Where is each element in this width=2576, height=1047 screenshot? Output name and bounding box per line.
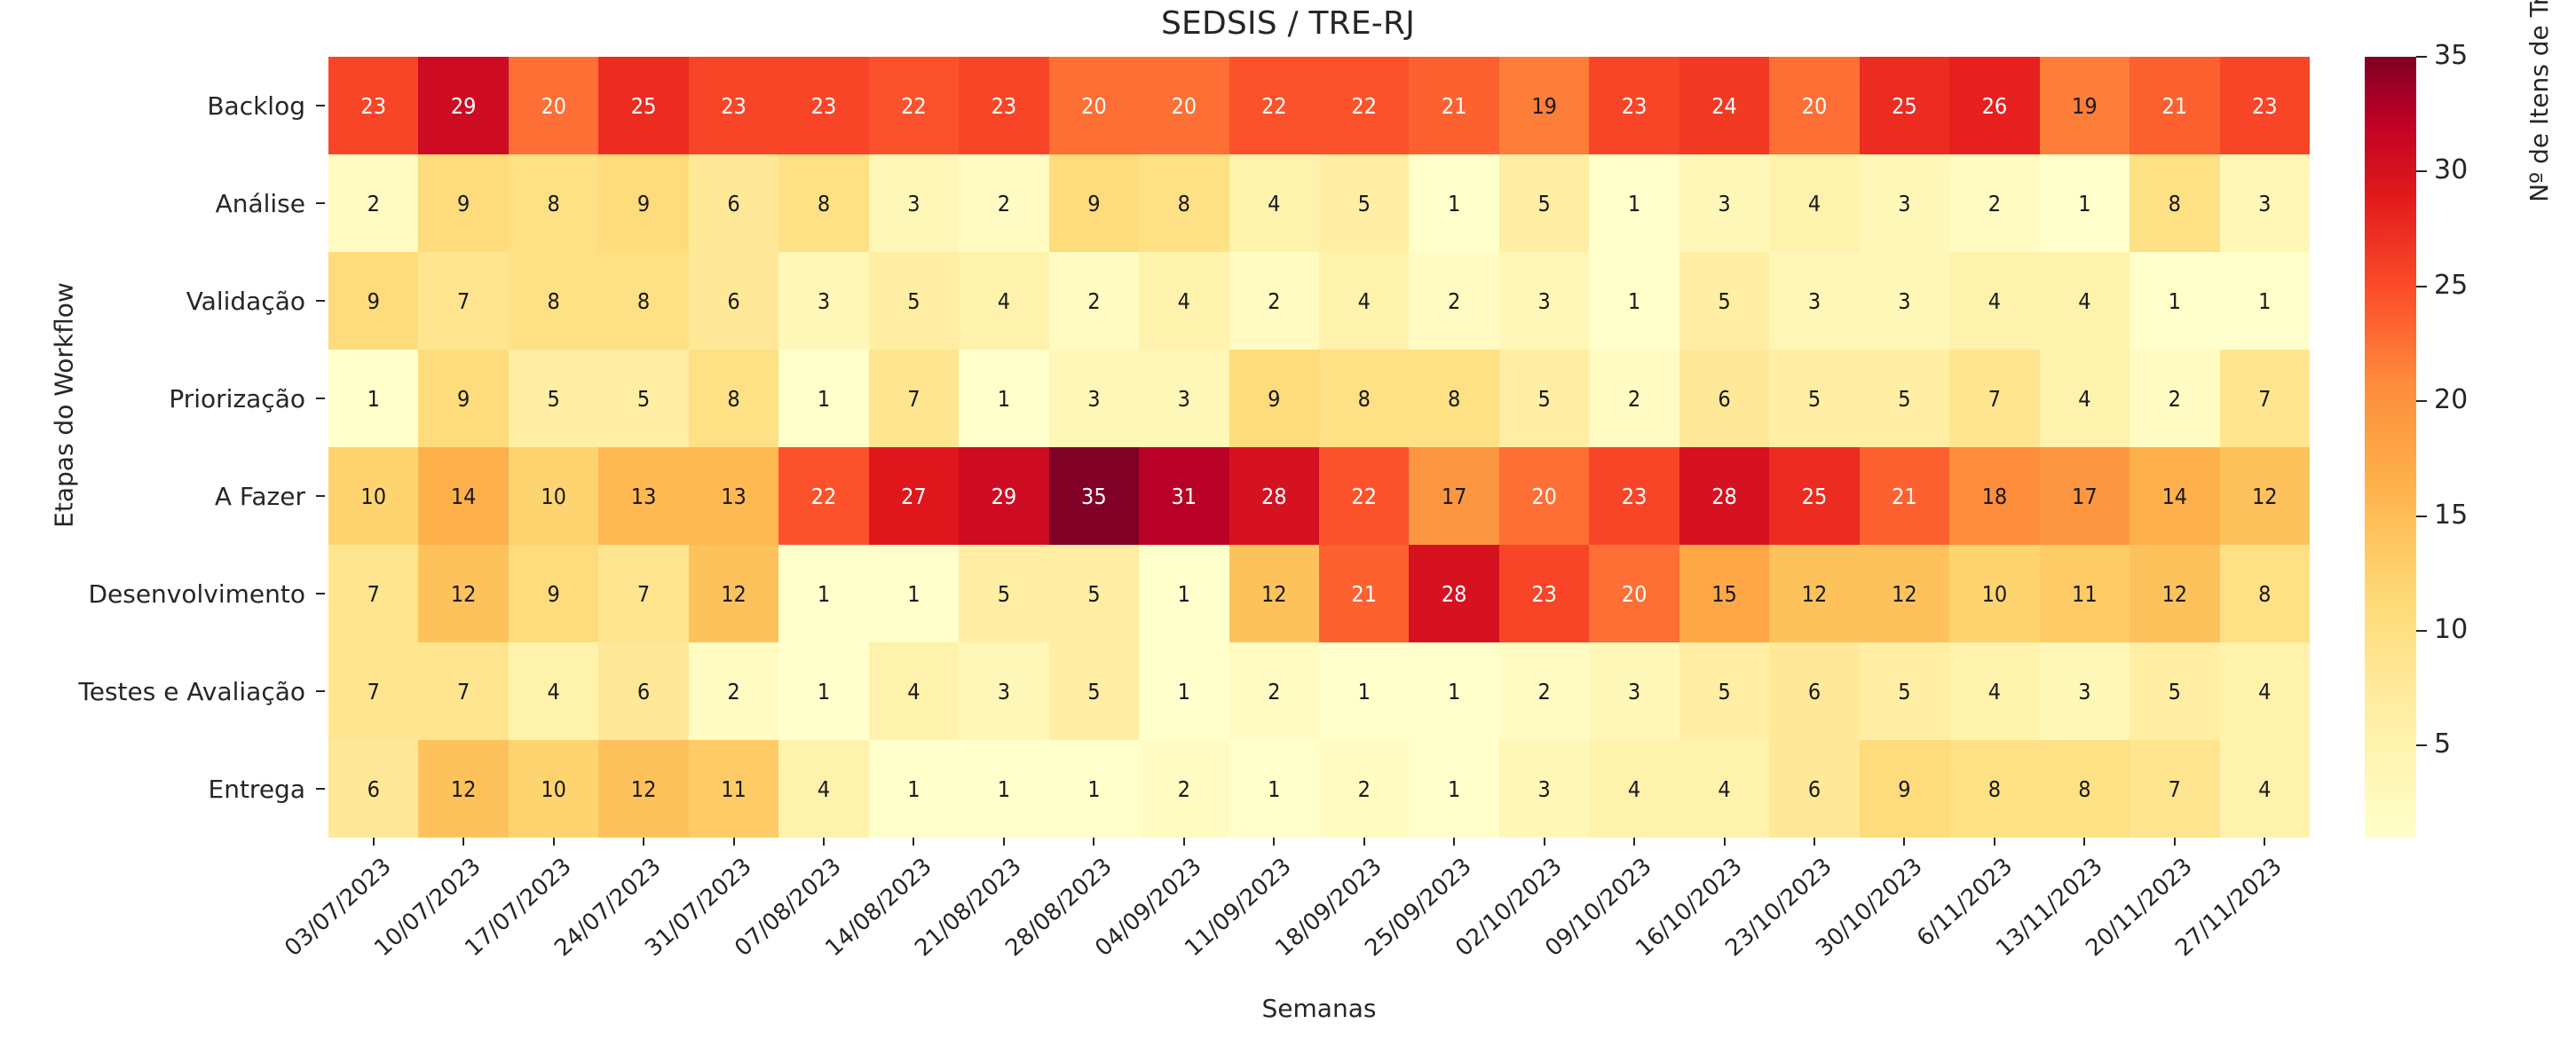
heatmap-cell: 1 xyxy=(778,350,868,447)
heatmap-cell: 4 xyxy=(869,642,959,740)
x-axis-tick-label: 27/11/2023 xyxy=(2220,850,2310,974)
heatmap-cell: 20 xyxy=(1139,57,1229,154)
heatmap-cell: 3 xyxy=(2220,154,2310,252)
colorbar-tick-mark xyxy=(2416,516,2427,517)
heatmap-cell: 8 xyxy=(1409,350,1498,447)
heatmap-cell: 1 xyxy=(2040,154,2130,252)
heatmap-cell: 2 xyxy=(1139,740,1229,838)
heatmap-cell: 29 xyxy=(418,57,508,154)
heatmap-cell: 7 xyxy=(418,252,508,350)
heatmap-cell: 23 xyxy=(1589,447,1679,545)
heatmap-cell: 1 xyxy=(328,350,418,447)
heatmap-cell: 2 xyxy=(2130,350,2219,447)
heatmap-cell: 20 xyxy=(509,57,598,154)
y-axis-tick-mark xyxy=(312,642,328,740)
heatmap-cell: 8 xyxy=(2130,154,2219,252)
heatmap-cell: 20 xyxy=(1769,57,1859,154)
heatmap-cell: 1 xyxy=(2220,252,2310,350)
y-axis-tick-label: Análise xyxy=(0,154,312,252)
heatmap-cell: 1 xyxy=(869,740,959,838)
heatmap-cell: 2 xyxy=(959,154,1048,252)
heatmap-cell: 4 xyxy=(509,642,598,740)
heatmap-cell: 1 xyxy=(1229,740,1319,838)
heatmap-cell: 23 xyxy=(2220,57,2310,154)
colorbar-tick-mark xyxy=(2416,286,2427,287)
heatmap-cell: 25 xyxy=(1769,447,1859,545)
heatmap-cell: 10 xyxy=(1949,545,2039,642)
heatmap-cell: 1 xyxy=(1589,252,1679,350)
heatmap-cell: 23 xyxy=(778,57,868,154)
heatmap-cell: 1 xyxy=(1139,642,1229,740)
heatmap-cell: 20 xyxy=(1049,57,1139,154)
heatmap-cell: 4 xyxy=(1769,154,1859,252)
heatmap-cell: 25 xyxy=(1860,57,1949,154)
y-axis-tick-label: Testes e Avaliação xyxy=(0,642,312,740)
heatmap-cell: 9 xyxy=(1049,154,1139,252)
heatmap-cell: 10 xyxy=(328,447,418,545)
colorbar-tick-mark xyxy=(2416,400,2427,402)
heatmap-cell: 5 xyxy=(1860,642,1949,740)
y-axis-tick-mark xyxy=(312,350,328,447)
heatmap-cell: 5 xyxy=(869,252,959,350)
heatmap-cell: 15 xyxy=(1679,545,1769,642)
x-axis-tick-mark xyxy=(2040,838,2130,850)
heatmap-cell: 12 xyxy=(1769,545,1859,642)
heatmap-cell: 6 xyxy=(1769,740,1859,838)
heatmap-cell: 8 xyxy=(509,252,598,350)
colorbar-tick-label: 15 xyxy=(2434,502,2468,529)
heatmap-cell: 4 xyxy=(2040,350,2130,447)
heatmap-cell: 7 xyxy=(869,350,959,447)
y-axis-tick-label: Desenvolvimento xyxy=(0,545,312,642)
heatmap-cell: 22 xyxy=(778,447,868,545)
heatmap-cell: 29 xyxy=(959,447,1048,545)
heatmap-cell: 3 xyxy=(1860,154,1949,252)
x-axis-tick-mark xyxy=(778,838,868,850)
heatmap-cell: 5 xyxy=(1499,154,1589,252)
colorbar-tick-label: 30 xyxy=(2434,157,2468,184)
y-axis-tick-mark xyxy=(312,740,328,838)
heatmap-cell: 3 xyxy=(869,154,959,252)
heatmap-cell: 35 xyxy=(1049,447,1139,545)
heatmap-cell: 6 xyxy=(1769,642,1859,740)
heatmap-cell: 2 xyxy=(689,642,778,740)
colorbar-label: Nº de Itens de Trabalho xyxy=(2525,0,2554,447)
heatmap-grid: 2329202523232223202022222119232420252619… xyxy=(328,57,2310,838)
x-axis-tick-mark xyxy=(1679,838,1769,850)
heatmap-cell: 14 xyxy=(418,447,508,545)
y-axis-tick-label: Validação xyxy=(0,252,312,350)
heatmap-cell: 2 xyxy=(1949,154,2039,252)
y-axis-tick-label: Entrega xyxy=(0,740,312,838)
colorbar-tick-label: 20 xyxy=(2434,387,2468,413)
x-axis-tick-mark xyxy=(598,838,688,850)
colorbar-tick-mark xyxy=(2416,56,2427,58)
heatmap-cell: 5 xyxy=(598,350,688,447)
heatmap-cell: 1 xyxy=(959,740,1048,838)
heatmap-cell: 13 xyxy=(689,447,778,545)
heatmap-cell: 9 xyxy=(1229,350,1319,447)
heatmap-cell: 2 xyxy=(1319,740,1409,838)
y-axis-tick-mark xyxy=(312,545,328,642)
colorbar-tick-mark xyxy=(2416,170,2427,172)
heatmap-cell: 12 xyxy=(1860,545,1949,642)
colorbar-tick-label: 10 xyxy=(2434,617,2468,643)
heatmap-cell: 7 xyxy=(2220,350,2310,447)
x-axis-tick-mark xyxy=(1499,838,1589,850)
heatmap-cell: 28 xyxy=(1409,545,1498,642)
heatmap-cell: 4 xyxy=(1949,252,2039,350)
heatmap-cell: 1 xyxy=(1409,740,1498,838)
x-axis-tick-mark xyxy=(1319,838,1409,850)
heatmap-cell: 2 xyxy=(1499,642,1589,740)
heatmap-cell: 9 xyxy=(328,252,418,350)
heatmap-cell: 11 xyxy=(689,740,778,838)
heatmap-figure: SEDSIS / TRE-RJ Etapas do Workflow Backl… xyxy=(0,0,2576,1047)
heatmap-cell: 8 xyxy=(2220,545,2310,642)
x-axis-tick-mark xyxy=(1949,838,2039,850)
colorbar-gradient xyxy=(2365,57,2416,838)
heatmap-cell: 23 xyxy=(959,57,1048,154)
heatmap-cell: 1 xyxy=(778,642,868,740)
heatmap-cell: 14 xyxy=(2130,447,2219,545)
x-axis-tick-mark xyxy=(869,838,959,850)
heatmap-cell: 1 xyxy=(778,545,868,642)
heatmap-cell: 5 xyxy=(1049,642,1139,740)
x-axis-tick-mark xyxy=(328,838,418,850)
heatmap-cell: 7 xyxy=(2130,740,2219,838)
heatmap-cell: 8 xyxy=(689,350,778,447)
x-axis-tick-mark xyxy=(1589,838,1679,850)
heatmap-cell: 22 xyxy=(1319,447,1409,545)
heatmap-cell: 3 xyxy=(1769,252,1859,350)
colorbar-tick-mark xyxy=(2416,744,2427,746)
heatmap-cell: 2 xyxy=(1049,252,1139,350)
heatmap-cell: 21 xyxy=(1319,545,1409,642)
y-axis-tick-label: Priorização xyxy=(0,350,312,447)
heatmap-cell: 23 xyxy=(328,57,418,154)
heatmap-cell: 3 xyxy=(1499,740,1589,838)
heatmap-cell: 2 xyxy=(328,154,418,252)
x-axis-label: Semanas xyxy=(328,994,2310,1023)
heatmap-cell: 3 xyxy=(1589,642,1679,740)
colorbar: Nº de Itens de Trabalho 5101520253035 xyxy=(2365,57,2576,838)
x-axis-tick-mark xyxy=(1229,838,1319,850)
colorbar-tick-mark xyxy=(2416,630,2427,632)
heatmap-cell: 1 xyxy=(1409,642,1498,740)
page-title: SEDSIS / TRE-RJ xyxy=(0,5,2576,42)
heatmap-cell: 4 xyxy=(778,740,868,838)
heatmap-cell: 17 xyxy=(1409,447,1498,545)
heatmap-cell: 8 xyxy=(598,252,688,350)
x-axis-tick-mark xyxy=(959,838,1048,850)
heatmap-cell: 12 xyxy=(2130,545,2219,642)
heatmap-cell: 20 xyxy=(1499,447,1589,545)
heatmap-cell: 4 xyxy=(2040,252,2130,350)
y-axis-tick-mark xyxy=(312,154,328,252)
heatmap-cell: 11 xyxy=(2040,545,2130,642)
heatmap-cell: 3 xyxy=(778,252,868,350)
colorbar-tick-label: 25 xyxy=(2434,272,2468,299)
heatmap-cell: 5 xyxy=(1049,545,1139,642)
y-axis-tick-mark xyxy=(312,252,328,350)
heatmap-cell: 10 xyxy=(509,447,598,545)
heatmap-cell: 8 xyxy=(1319,350,1409,447)
heatmap-cell: 5 xyxy=(1499,350,1589,447)
heatmap-cell: 20 xyxy=(1589,545,1679,642)
heatmap-cell: 28 xyxy=(1679,447,1769,545)
heatmap-cell: 3 xyxy=(2040,642,2130,740)
y-axis-tick-marks xyxy=(312,57,328,838)
heatmap-cell: 12 xyxy=(418,545,508,642)
heatmap-cell: 28 xyxy=(1229,447,1319,545)
heatmap-cell: 1 xyxy=(2130,252,2219,350)
heatmap-cell: 26 xyxy=(1949,57,2039,154)
heatmap-cell: 12 xyxy=(598,740,688,838)
heatmap-cell: 31 xyxy=(1139,447,1229,545)
heatmap-cell: 5 xyxy=(1679,642,1769,740)
x-axis-tick-mark xyxy=(418,838,508,850)
heatmap-cell: 3 xyxy=(1139,350,1229,447)
heatmap-cell: 6 xyxy=(328,740,418,838)
heatmap-cell: 6 xyxy=(598,642,688,740)
heatmap-cell: 21 xyxy=(1409,57,1498,154)
heatmap-cell: 21 xyxy=(1860,447,1949,545)
heatmap-cell: 1 xyxy=(1589,154,1679,252)
heatmap-cell: 4 xyxy=(2220,740,2310,838)
heatmap-cell: 4 xyxy=(2220,642,2310,740)
heatmap-cell: 12 xyxy=(2220,447,2310,545)
x-axis-tick-mark xyxy=(1139,838,1229,850)
heatmap-cell: 8 xyxy=(509,154,598,252)
heatmap-cell: 27 xyxy=(869,447,959,545)
heatmap-cell: 12 xyxy=(1229,545,1319,642)
x-axis-tick-mark xyxy=(1409,838,1498,850)
heatmap-cell: 1 xyxy=(869,545,959,642)
x-axis-tick-mark xyxy=(689,838,778,850)
heatmap-cell: 4 xyxy=(1229,154,1319,252)
colorbar-tick-label: 35 xyxy=(2434,43,2468,69)
heatmap-cell: 9 xyxy=(418,350,508,447)
heatmap-cell: 6 xyxy=(689,252,778,350)
heatmap-cell: 5 xyxy=(2130,642,2219,740)
heatmap-cell: 2 xyxy=(1409,252,1498,350)
heatmap-cell: 2 xyxy=(1229,642,1319,740)
x-axis-tick-mark xyxy=(1769,838,1859,850)
heatmap-cell: 10 xyxy=(509,740,598,838)
heatmap-cell: 1 xyxy=(1049,740,1139,838)
heatmap-cell: 8 xyxy=(778,154,868,252)
heatmap-cell: 9 xyxy=(418,154,508,252)
heatmap-plot-area: 2329202523232223202022222119232420252619… xyxy=(328,57,2310,838)
heatmap-cell: 4 xyxy=(1679,740,1769,838)
heatmap-cell: 22 xyxy=(1319,57,1409,154)
heatmap-cell: 3 xyxy=(1049,350,1139,447)
heatmap-cell: 9 xyxy=(598,154,688,252)
x-axis-tick-mark xyxy=(1049,838,1139,850)
heatmap-cell: 3 xyxy=(959,642,1048,740)
heatmap-cell: 23 xyxy=(1589,57,1679,154)
heatmap-cell: 3 xyxy=(1679,154,1769,252)
heatmap-cell: 7 xyxy=(1949,350,2039,447)
heatmap-cell: 1 xyxy=(1409,154,1498,252)
x-axis-tick-mark xyxy=(2130,838,2219,850)
y-axis-tick-mark xyxy=(312,57,328,154)
y-axis-tick-mark xyxy=(312,447,328,545)
heatmap-cell: 23 xyxy=(689,57,778,154)
y-axis-tick-label: Backlog xyxy=(0,57,312,154)
heatmap-cell: 7 xyxy=(328,642,418,740)
heatmap-cell: 8 xyxy=(1139,154,1229,252)
heatmap-cell: 23 xyxy=(1499,545,1589,642)
heatmap-cell: 7 xyxy=(328,545,418,642)
heatmap-cell: 13 xyxy=(598,447,688,545)
x-axis-tick-marks xyxy=(328,838,2310,850)
heatmap-cell: 21 xyxy=(2130,57,2219,154)
heatmap-cell: 5 xyxy=(1679,252,1769,350)
heatmap-cell: 5 xyxy=(1860,350,1949,447)
heatmap-cell: 7 xyxy=(418,642,508,740)
heatmap-cell: 1 xyxy=(1139,545,1229,642)
x-axis-tick-mark xyxy=(2220,838,2310,850)
colorbar-tick-label: 5 xyxy=(2434,731,2451,758)
heatmap-cell: 4 xyxy=(1589,740,1679,838)
heatmap-cell: 3 xyxy=(1860,252,1949,350)
heatmap-cell: 5 xyxy=(509,350,598,447)
heatmap-cell: 25 xyxy=(598,57,688,154)
heatmap-cell: 4 xyxy=(1949,642,2039,740)
heatmap-cell: 12 xyxy=(418,740,508,838)
x-axis-tick-mark xyxy=(1860,838,1949,850)
heatmap-cell: 24 xyxy=(1679,57,1769,154)
heatmap-cell: 2 xyxy=(1589,350,1679,447)
heatmap-cell: 7 xyxy=(598,545,688,642)
heatmap-cell: 22 xyxy=(869,57,959,154)
x-axis-tick-labels: 03/07/202310/07/202317/07/202324/07/2023… xyxy=(328,850,2310,974)
heatmap-cell: 8 xyxy=(2040,740,2130,838)
heatmap-cell: 1 xyxy=(959,350,1048,447)
heatmap-cell: 4 xyxy=(959,252,1048,350)
heatmap-cell: 6 xyxy=(689,154,778,252)
heatmap-cell: 9 xyxy=(1860,740,1949,838)
heatmap-cell: 9 xyxy=(509,545,598,642)
heatmap-cell: 5 xyxy=(959,545,1048,642)
heatmap-cell: 12 xyxy=(689,545,778,642)
heatmap-cell: 19 xyxy=(1499,57,1589,154)
heatmap-cell: 4 xyxy=(1139,252,1229,350)
heatmap-cell: 1 xyxy=(1319,642,1409,740)
heatmap-cell: 2 xyxy=(1229,252,1319,350)
heatmap-cell: 6 xyxy=(1679,350,1769,447)
heatmap-cell: 3 xyxy=(1499,252,1589,350)
heatmap-cell: 17 xyxy=(2040,447,2130,545)
x-axis-tick-mark xyxy=(509,838,598,850)
heatmap-cell: 22 xyxy=(1229,57,1319,154)
heatmap-cell: 4 xyxy=(1319,252,1409,350)
heatmap-cell: 19 xyxy=(2040,57,2130,154)
heatmap-cell: 5 xyxy=(1769,350,1859,447)
y-axis-tick-label: A Fazer xyxy=(0,447,312,545)
heatmap-cell: 5 xyxy=(1319,154,1409,252)
heatmap-cell: 8 xyxy=(1949,740,2039,838)
heatmap-cell: 18 xyxy=(1949,447,2039,545)
y-axis-tick-labels: BacklogAnáliseValidaçãoPriorizaçãoA Faze… xyxy=(0,57,312,838)
